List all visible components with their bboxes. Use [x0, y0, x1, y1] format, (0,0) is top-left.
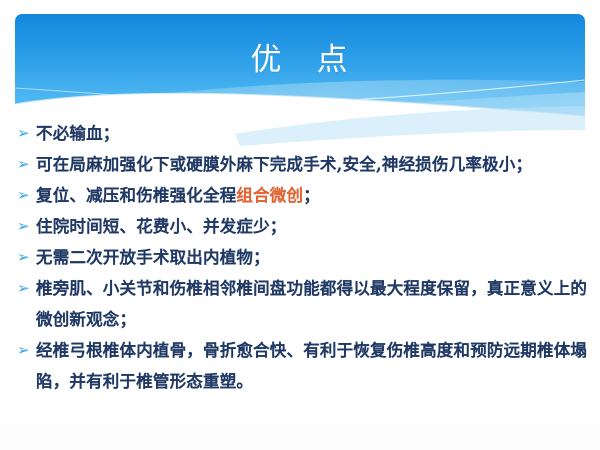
slide-title: 优 点 — [0, 40, 600, 80]
bullet-text: 复位、减压和伤椎强化全程组合微创； — [36, 180, 590, 211]
bullet-item-short-stay: ➢ 住院时间短、花费小、并发症少； — [14, 211, 590, 242]
arrow-bullet-icon: ➢ — [14, 149, 36, 180]
arrow-bullet-icon: ➢ — [14, 211, 36, 242]
presentation-slide: 优 点 ➢ 不必输血； ➢ 可在局麻加强化下或硬膜外麻下完成手术,安全,神经损伤… — [0, 0, 600, 450]
bullet-item-no-transfusion: ➢ 不必输血； — [14, 118, 590, 149]
bullet-text: 可在局麻加强化下或硬膜外麻下完成手术,安全,神经损伤几率极小； — [36, 149, 590, 180]
bullet-text-segment: 复位、减压和伤椎强化全程 — [36, 186, 236, 205]
bullet-text-segment: ； — [303, 186, 320, 205]
bullet-item-preserve-function: ➢ 椎旁肌、小关节和伤椎相邻椎间盘功能都得以最大程度保留，真正意义上的微创新观念… — [14, 273, 590, 335]
highlighted-text: 组合微创 — [236, 186, 303, 205]
arrow-bullet-icon: ➢ — [14, 242, 36, 273]
bullet-item-no-second-surgery: ➢ 无需二次开放手术取出内植物； — [14, 242, 590, 273]
arrow-bullet-icon: ➢ — [14, 335, 36, 366]
bullet-text: 不必输血； — [36, 118, 590, 149]
arrow-bullet-icon: ➢ — [14, 180, 36, 211]
arrow-bullet-icon: ➢ — [14, 118, 36, 149]
bullet-text: 住院时间短、花费小、并发症少； — [36, 211, 590, 242]
bullet-text: 经椎弓根椎体内植骨，骨折愈合快、有利于恢复伤椎高度和预防远期椎体塌陷，并有利于椎… — [36, 335, 590, 397]
slide-bottom-strip — [0, 424, 600, 450]
bullet-text: 无需二次开放手术取出内植物； — [36, 242, 590, 273]
arrow-bullet-icon: ➢ — [14, 273, 36, 304]
bullet-list: ➢ 不必输血； ➢ 可在局麻加强化下或硬膜外麻下完成手术,安全,神经损伤几率极小… — [14, 118, 590, 397]
bullet-item-minimally-invasive: ➢ 复位、减压和伤椎强化全程组合微创； — [14, 180, 590, 211]
bullet-item-bone-graft: ➢ 经椎弓根椎体内植骨，骨折愈合快、有利于恢复伤椎高度和预防远期椎体塌陷，并有利… — [14, 335, 590, 397]
bullet-item-anesthesia: ➢ 可在局麻加强化下或硬膜外麻下完成手术,安全,神经损伤几率极小； — [14, 149, 590, 180]
bullet-text: 椎旁肌、小关节和伤椎相邻椎间盘功能都得以最大程度保留，真正意义上的微创新观念； — [36, 273, 590, 335]
